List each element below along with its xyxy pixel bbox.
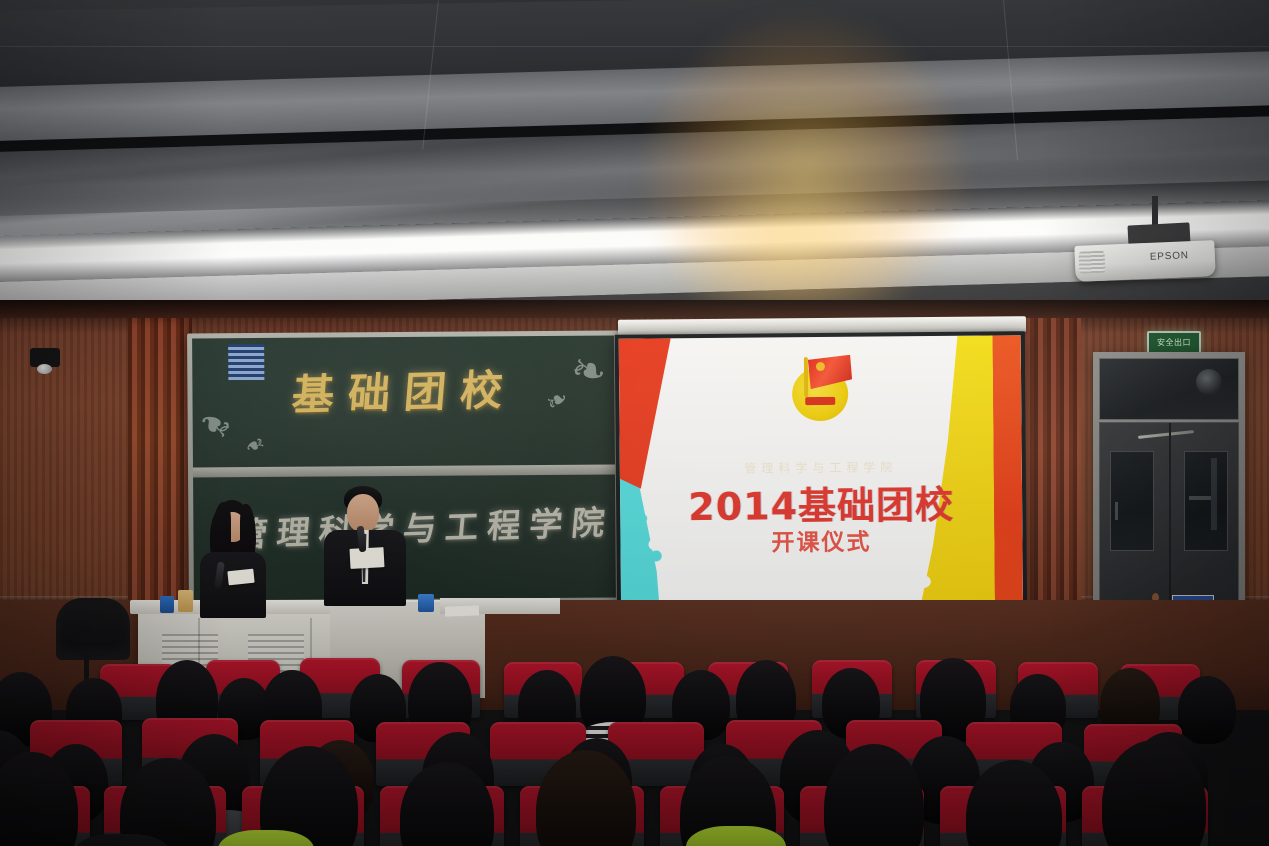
projection-screen: 管理科学与工程学院 2014基础团校 开课仪式 共青团管理科学与工程学院委员会 — [615, 331, 1028, 643]
blue-cup[interactable] — [418, 594, 434, 612]
door-window-left — [1110, 451, 1154, 551]
wall-camera-icon — [30, 348, 60, 367]
door-transom-window — [1099, 358, 1239, 420]
projector-vent — [1079, 251, 1106, 274]
slide-frill — [915, 575, 931, 588]
ceiling: EPSON — [0, 0, 1269, 322]
door-window-glare — [1189, 496, 1211, 500]
blackboard-subtitle: 管理科学与工程学院 — [233, 496, 616, 557]
blue-cup[interactable] — [160, 596, 174, 613]
ceiling-seam — [0, 46, 1269, 47]
slide-subtitle: 开课仪式 — [620, 521, 1022, 559]
host-body — [200, 552, 266, 618]
communist-youth-league-emblem — [786, 353, 855, 424]
female-host — [196, 500, 272, 616]
emblem-flag-pole — [804, 357, 808, 397]
door-window-right — [1184, 451, 1228, 551]
male-host — [324, 486, 410, 616]
door-handle[interactable] — [1138, 430, 1194, 439]
chalk-ornament-icon: ❧ — [240, 430, 269, 461]
door-window-glare — [1211, 458, 1217, 530]
exit-sign-label: 安全出口 — [1157, 339, 1191, 347]
chalk-ornament-icon: ❧ — [193, 400, 238, 449]
projector-icon: EPSON — [1074, 240, 1215, 282]
paper-notes[interactable] — [445, 605, 479, 616]
host-cue-card — [349, 547, 384, 569]
door-window-glare — [1115, 502, 1118, 520]
presentation-slide: 管理科学与工程学院 2014基础团校 开课仪式 共青团管理科学与工程学院委员会 — [619, 335, 1024, 638]
slide-frill — [925, 398, 937, 409]
chalk-ornament-icon: ❧ — [567, 347, 610, 395]
slide-frill — [907, 420, 917, 429]
host-cue-card — [227, 569, 254, 586]
projector-brand-label: EPSON — [1150, 250, 1189, 263]
lecture-hall-scene: EPSON 安全出口 ❧ ❧ ❧ ❧ 基础团校 管理科学与工程学院 — [0, 0, 1269, 846]
blackboard-title: 基础团校 — [290, 356, 519, 423]
audience-area — [0, 636, 1269, 846]
curtain-right — [1021, 318, 1081, 648]
tan-cup[interactable] — [178, 590, 193, 612]
slide-frill — [909, 370, 925, 384]
blackboard-poster — [228, 344, 264, 380]
audience-head — [1178, 676, 1236, 744]
